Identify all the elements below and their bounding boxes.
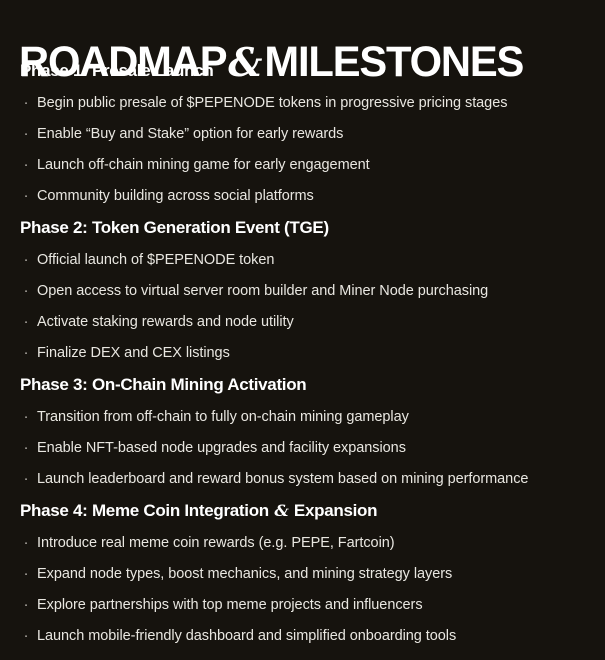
- list-item: ·Finalize DEX and CEX listings: [0, 338, 605, 369]
- phase-block: Phase 2: Token Generation Event (TGE)·Of…: [0, 217, 605, 369]
- phases-container: Phase 1: Presale Launch·Begin public pre…: [0, 60, 605, 652]
- bullet-dot-icon: ·: [22, 433, 30, 464]
- phase-heading: Phase 4: Meme Coin Integration & Expansi…: [0, 500, 605, 522]
- list-item-label: Explore partnerships with top meme proje…: [37, 597, 423, 613]
- phase-heading-text-2: Expansion: [294, 501, 377, 520]
- list-item: ·Enable NFT-based node upgrades and faci…: [0, 433, 605, 464]
- phase-heading: Phase 2: Token Generation Event (TGE): [0, 217, 605, 239]
- bullet-dot-icon: ·: [22, 245, 30, 276]
- list-item-label: Launch leaderboard and reward bonus syst…: [37, 471, 528, 487]
- bullet-dot-icon: ·: [22, 402, 30, 433]
- list-item: ·Official launch of $PEPENODE token: [0, 245, 605, 276]
- bullet-dot-icon: ·: [22, 276, 30, 307]
- list-item: ·Introduce real meme coin rewards (e.g. …: [0, 528, 605, 559]
- list-item: ·Enable “Buy and Stake” option for early…: [0, 119, 605, 150]
- phase-heading: Phase 1: Presale Launch: [0, 60, 605, 82]
- bullet-list: ·Introduce real meme coin rewards (e.g. …: [0, 528, 605, 652]
- bullet-dot-icon: ·: [22, 119, 30, 150]
- bullet-dot-icon: ·: [22, 528, 30, 559]
- phase-heading: Phase 3: On-Chain Mining Activation: [0, 374, 605, 396]
- list-item: ·Explore partnerships with top meme proj…: [0, 590, 605, 621]
- bullet-dot-icon: ·: [22, 621, 30, 652]
- list-item-label: Begin public presale of $PEPENODE tokens…: [37, 95, 507, 111]
- list-item-label: Enable NFT-based node upgrades and facil…: [37, 440, 406, 456]
- list-item: ·Launch off-chain mining game for early …: [0, 150, 605, 181]
- list-item-label: Introduce real meme coin rewards (e.g. P…: [37, 535, 395, 551]
- list-item-label: Enable “Buy and Stake” option for early …: [37, 126, 343, 142]
- bullet-dot-icon: ·: [22, 181, 30, 212]
- roadmap-slide: ROADMAP&MILESTONES Phase 1: Presale Laun…: [0, 0, 605, 660]
- list-item-label: Finalize DEX and CEX listings: [37, 345, 230, 361]
- list-item-label: Community building across social platfor…: [37, 188, 314, 204]
- list-item-label: Launch off-chain mining game for early e…: [37, 157, 370, 173]
- phase-block: Phase 4: Meme Coin Integration & Expansi…: [0, 500, 605, 652]
- bullet-dot-icon: ·: [22, 559, 30, 590]
- phase-heading-text: Phase 4: Meme Coin Integration: [20, 501, 269, 520]
- bullet-dot-icon: ·: [22, 307, 30, 338]
- list-item: ·Transition from off-chain to fully on-c…: [0, 402, 605, 433]
- list-item-label: Transition from off-chain to fully on-ch…: [37, 409, 409, 425]
- list-item: ·Activate staking rewards and node utili…: [0, 307, 605, 338]
- bullet-list: ·Official launch of $PEPENODE token·Open…: [0, 245, 605, 369]
- bullet-dot-icon: ·: [22, 590, 30, 621]
- list-item: ·Launch leaderboard and reward bonus sys…: [0, 464, 605, 495]
- list-item: ·Open access to virtual server room buil…: [0, 276, 605, 307]
- list-item: ·Expand node types, boost mechanics, and…: [0, 559, 605, 590]
- bullet-list: ·Begin public presale of $PEPENODE token…: [0, 88, 605, 212]
- list-item-label: Expand node types, boost mechanics, and …: [37, 566, 452, 582]
- bullet-dot-icon: ·: [22, 150, 30, 181]
- bullet-list: ·Transition from off-chain to fully on-c…: [0, 402, 605, 495]
- bullet-dot-icon: ·: [22, 88, 30, 119]
- bullet-dot-icon: ·: [22, 464, 30, 495]
- list-item: ·Community building across social platfo…: [0, 181, 605, 212]
- ampersand-glyph: &: [273, 501, 289, 520]
- bullet-dot-icon: ·: [22, 338, 30, 369]
- list-item: ·Begin public presale of $PEPENODE token…: [0, 88, 605, 119]
- list-item-label: Launch mobile-friendly dashboard and sim…: [37, 628, 456, 644]
- list-item: ·Launch mobile-friendly dashboard and si…: [0, 621, 605, 652]
- list-item-label: Official launch of $PEPENODE token: [37, 252, 274, 268]
- list-item-label: Open access to virtual server room build…: [37, 283, 488, 299]
- phase-block: Phase 1: Presale Launch·Begin public pre…: [0, 60, 605, 212]
- phase-block: Phase 3: On-Chain Mining Activation·Tran…: [0, 374, 605, 495]
- list-item-label: Activate staking rewards and node utilit…: [37, 314, 294, 330]
